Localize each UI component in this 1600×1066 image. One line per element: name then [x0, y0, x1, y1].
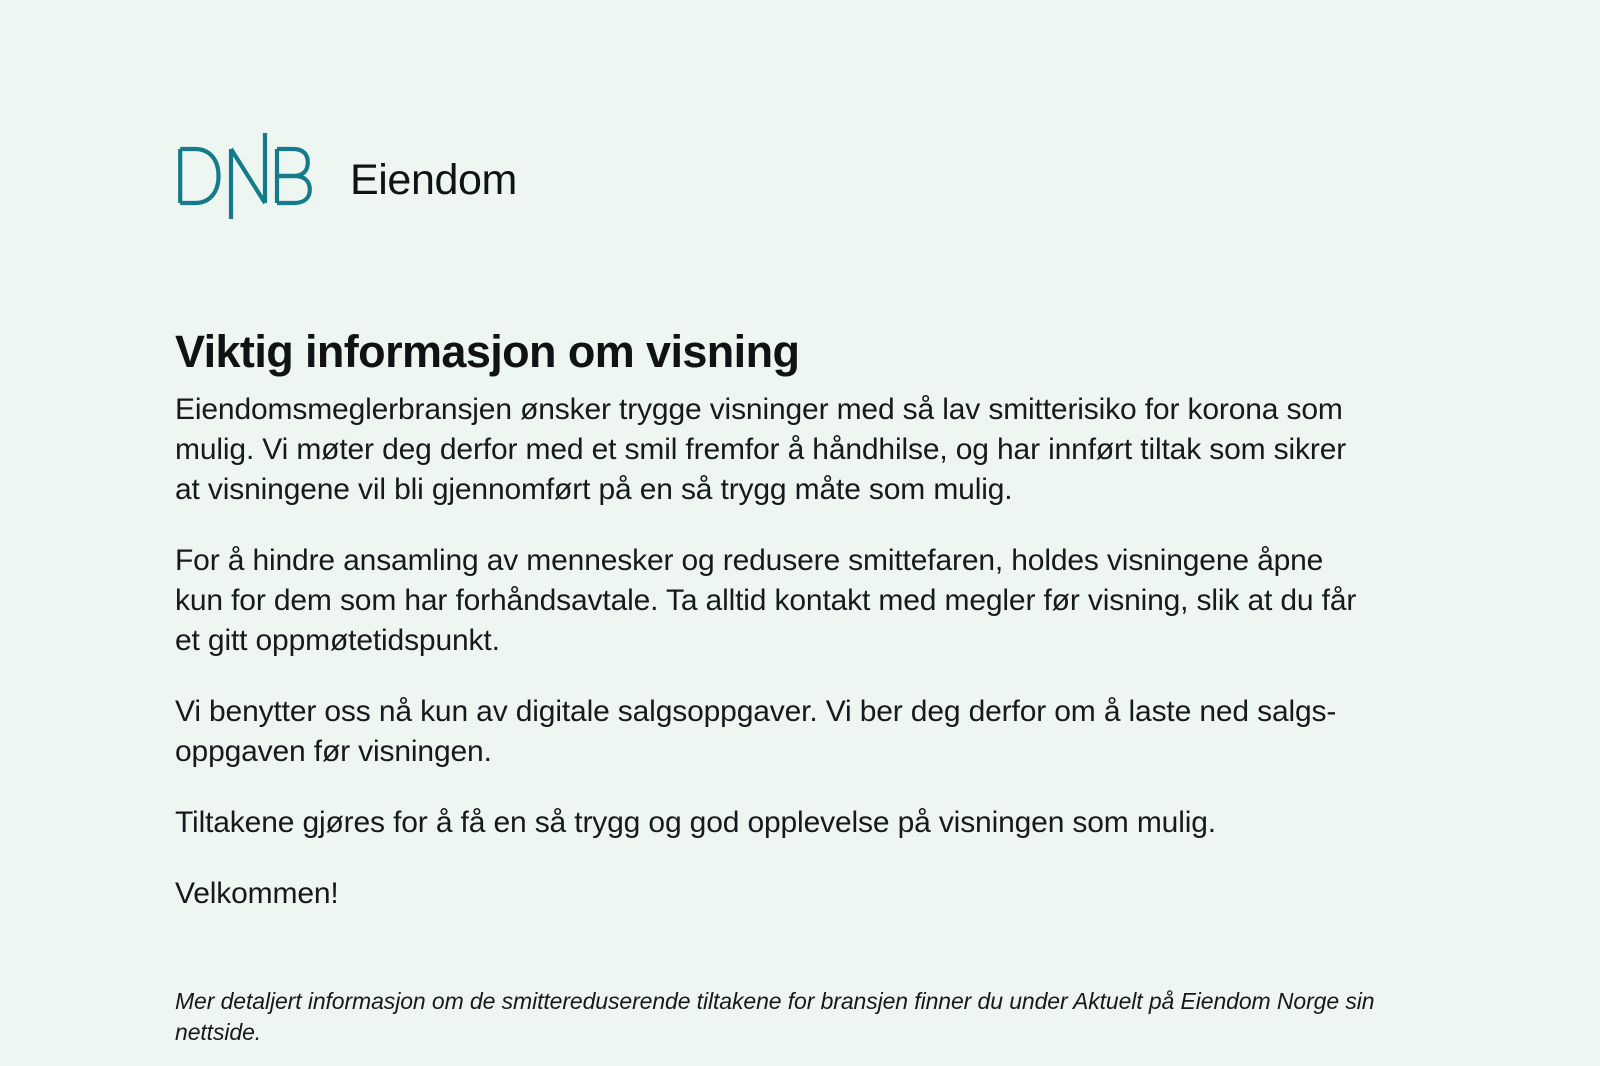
dnb-logo-icon — [176, 131, 312, 221]
page-title: Viktig informasjon om visning — [175, 326, 799, 378]
footer-note: Mer detaljert informasjon om de smittere… — [175, 986, 1435, 1048]
paragraph-3: Vi benytter oss nå kun av digitale salgs… — [175, 692, 1375, 772]
paragraph-2: For å hindre ansamling av mennesker og r… — [175, 541, 1375, 661]
brand-wordmark: Eiendom — [350, 159, 517, 202]
paragraph-5-greeting: Velkommen! — [175, 874, 1375, 914]
body-copy: Eiendomsmeglerbransjen ønsker trygge vis… — [175, 390, 1375, 914]
paragraph-4: Tiltakene gjøres for å få en så trygg og… — [175, 803, 1375, 843]
paragraph-1: Eiendomsmeglerbransjen ønsker trygge vis… — [175, 390, 1375, 510]
brand-logo: Eiendom — [176, 131, 517, 221]
visning-info-page: Eiendom Viktig informasjon om visning Ei… — [0, 0, 1600, 1066]
